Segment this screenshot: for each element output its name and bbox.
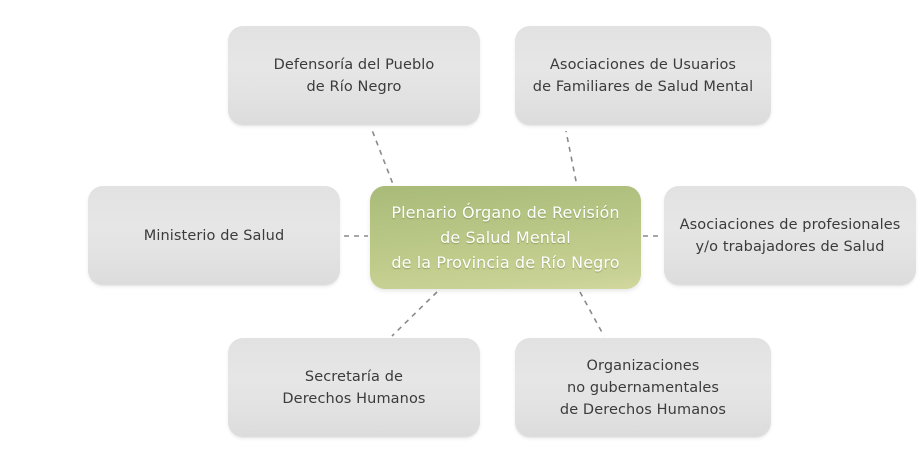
node-label-defensoria-del-pueblo: Defensoría del Pueblo de Río Negro	[264, 54, 445, 98]
node-asociaciones-usuarios-familiares[interactable]: Asociaciones de Usuarios de Familiares d…	[515, 26, 771, 125]
node-label-asociaciones-profesionales: Asociaciones de profesionales y/o trabaj…	[670, 214, 911, 258]
node-label-asociaciones-usuarios-familiares: Asociaciones de Usuarios de Familiares d…	[523, 54, 763, 98]
connector-organizaciones	[580, 292, 604, 336]
node-secretaria-derechos-humanos[interactable]: Secretaría de Derechos Humanos	[228, 338, 480, 437]
node-ministerio-de-salud[interactable]: Ministerio de Salud	[88, 186, 340, 285]
node-plenario-organo-de-revision[interactable]: Plenario Órgano de Revisión de Salud Men…	[370, 186, 641, 289]
node-organizaciones-no-gubernamentales[interactable]: Organizaciones no gubernamentales de Der…	[515, 338, 771, 437]
connector-defensoria	[372, 130, 396, 192]
node-label-organizaciones-no-gubernamentales: Organizaciones no gubernamentales de Der…	[550, 355, 736, 421]
node-label-plenario-organo-de-revision: Plenario Órgano de Revisión de Salud Men…	[381, 200, 629, 275]
connector-asociaciones-usuarios	[566, 131, 578, 191]
node-defensoria-del-pueblo[interactable]: Defensoría del Pueblo de Río Negro	[228, 26, 480, 125]
diagram-canvas: Defensoría del Pueblo de Río Negro Asoci…	[0, 0, 924, 456]
node-label-secretaria-derechos-humanos: Secretaría de Derechos Humanos	[272, 366, 435, 410]
node-asociaciones-profesionales[interactable]: Asociaciones de profesionales y/o trabaj…	[664, 186, 916, 285]
node-label-ministerio-de-salud: Ministerio de Salud	[134, 225, 295, 247]
connector-secretaria	[392, 292, 437, 336]
